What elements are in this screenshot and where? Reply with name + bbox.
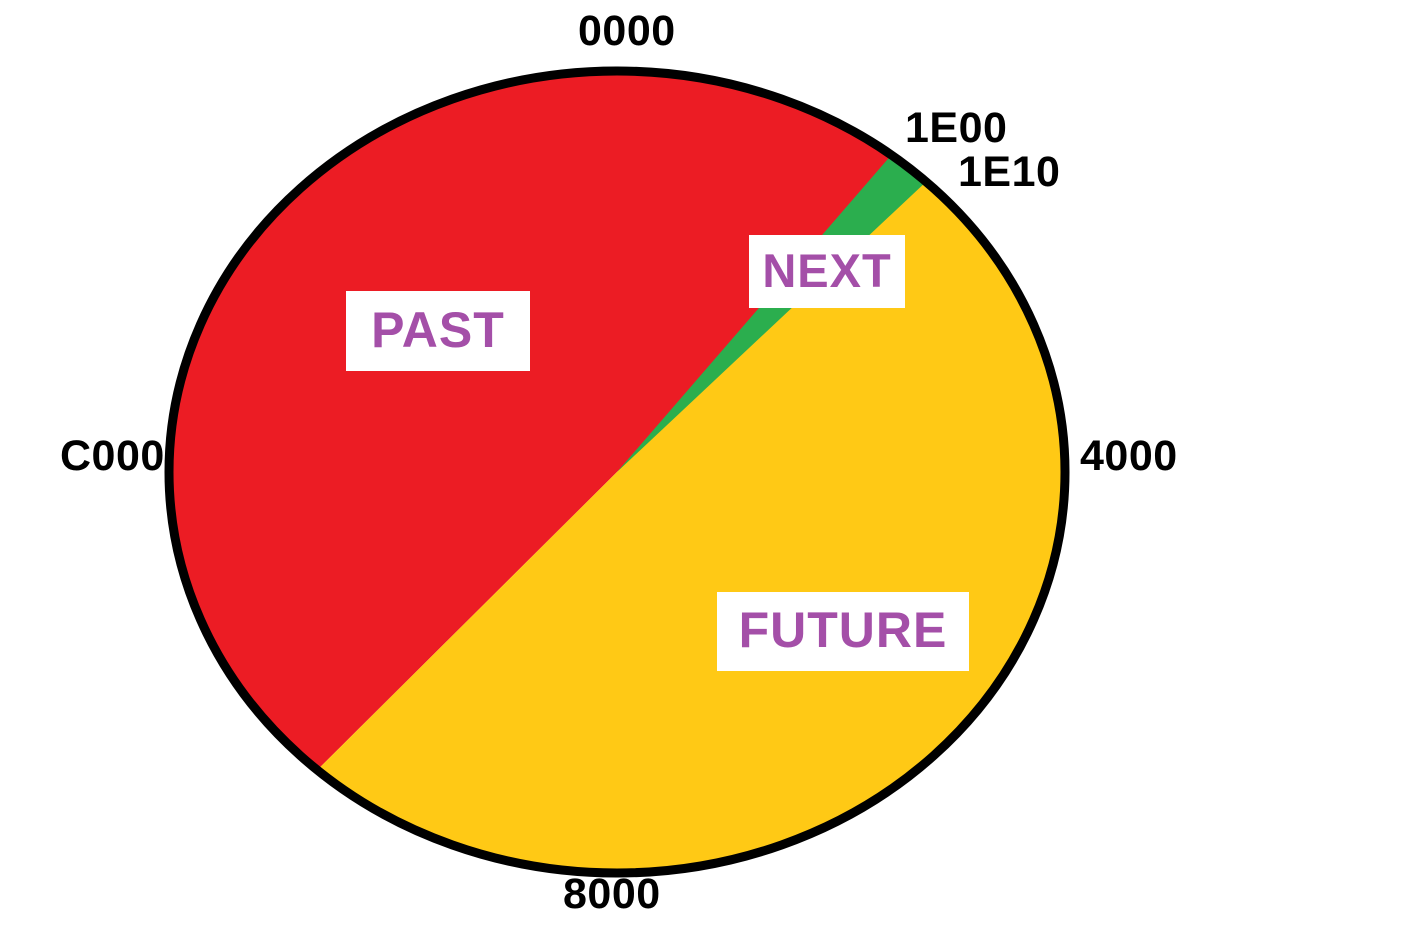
tick-label-C000: C000 bbox=[60, 435, 165, 478]
tick-label-4000: 4000 bbox=[1080, 435, 1178, 478]
region-label-next: NEXT bbox=[749, 235, 905, 308]
tick-label-1E00: 1E00 bbox=[905, 107, 1007, 150]
diagram-canvas: 0000 1E00 1E10 4000 8000 C000 PAST NEXT … bbox=[0, 0, 1404, 949]
ring-diagram bbox=[0, 0, 1404, 949]
region-label-past: PAST bbox=[346, 291, 530, 371]
region-label-future: FUTURE bbox=[717, 592, 969, 671]
tick-label-0000: 0000 bbox=[578, 10, 676, 53]
tick-label-8000: 8000 bbox=[563, 873, 661, 916]
tick-label-1E10: 1E10 bbox=[958, 151, 1060, 194]
